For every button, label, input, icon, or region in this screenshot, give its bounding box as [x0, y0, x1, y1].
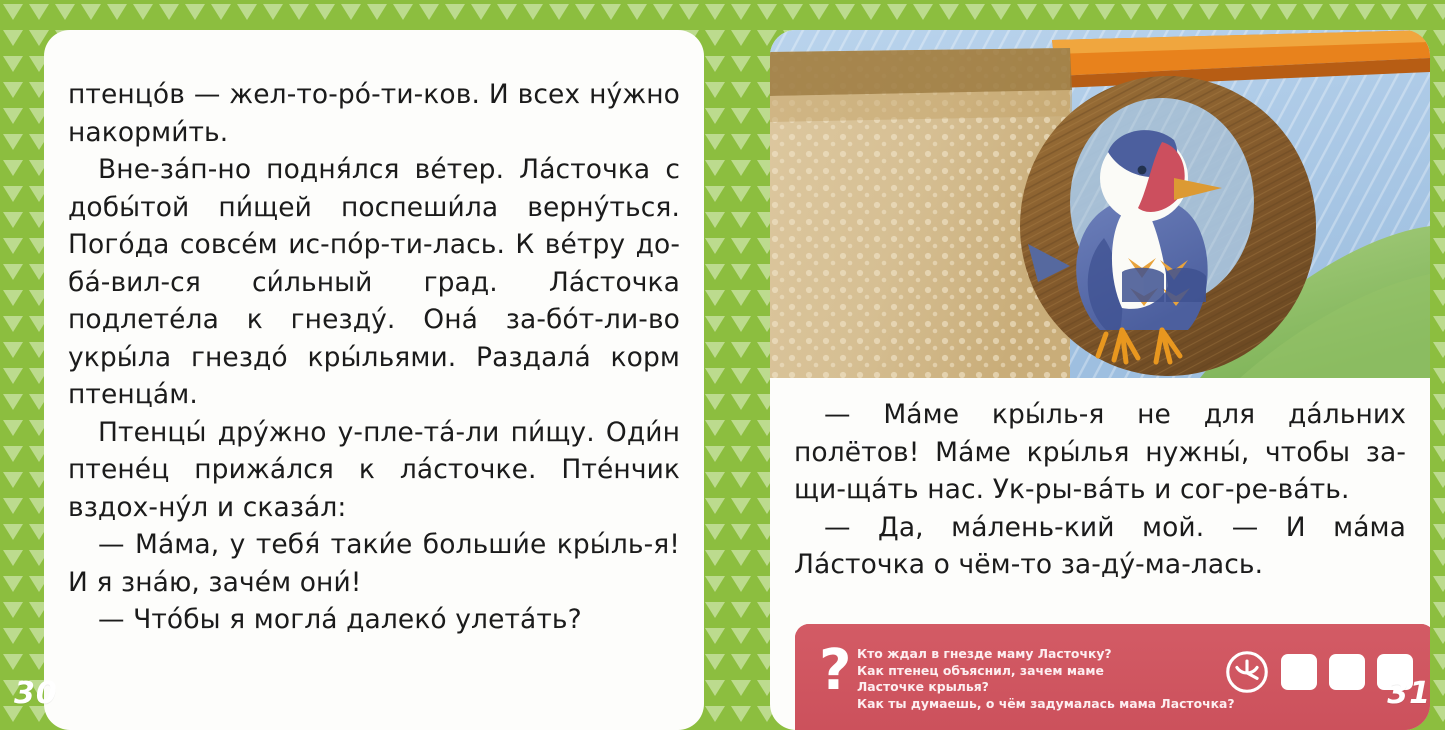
question-item: Кто ждал в гнезде маму Ласточку? — [857, 646, 1217, 663]
question-box: ? Кто ждал в гнезде маму Ласточку? Как п… — [795, 624, 1430, 730]
question-item: Ласточке крылья? — [857, 679, 1217, 696]
paragraph: — Что́бы я могла́ далеко́ улета́ть? — [68, 601, 680, 639]
paragraph: птенцо́в — жел-то-ро́-ти-ков. И всех ну́… — [68, 76, 680, 151]
right-page-text: — Ма́ме кры́ль-я не для да́льних полётов… — [794, 396, 1406, 584]
left-page-card: птенцо́в — жел-то-ро́-ти-ков. И всех ну́… — [44, 30, 704, 730]
question-mark-icon: ? — [819, 646, 851, 696]
paragraph: Птенцы́ дру́жно у-пле-та́-ли пи́щу. Оди́… — [68, 414, 680, 527]
time-box[interactable] — [1281, 654, 1317, 690]
time-box[interactable] — [1329, 654, 1365, 690]
paragraph: — Ма́ме кры́ль-я не для да́льних полётов… — [794, 396, 1406, 509]
paragraph: — Ма́ма, у тебя́ таки́е больши́е кры́ль-… — [68, 526, 680, 601]
paragraph: Вне-за́п-но подня́лся ве́тер. Ла́сточка … — [68, 151, 680, 414]
question-item: Как птенец объяснил, зачем маме — [857, 663, 1217, 680]
question-item: Как ты думаешь, о чём задумалась мама Ла… — [857, 696, 1217, 713]
swallow-in-nest-illustration — [770, 30, 1430, 378]
paragraph: — Да, ма́лень-кий мой. — И ма́ма Ла́сточ… — [794, 509, 1406, 584]
right-page-text-wrap: — Ма́ме кры́ль-я не для да́льних полётов… — [770, 378, 1430, 628]
page-number-right: 31 — [1387, 676, 1431, 711]
time-boxes-group — [1225, 650, 1413, 694]
left-page-text: птенцо́в — жел-то-ро́-ти-ков. И всех ну́… — [68, 76, 680, 639]
right-page-card: — Ма́ме кры́ль-я не для да́льних полётов… — [770, 30, 1430, 730]
clock-icon — [1225, 650, 1269, 694]
question-list: Кто ждал в гнезде маму Ласточку? Как пте… — [857, 646, 1217, 712]
page-number-left: 30 — [14, 676, 58, 711]
